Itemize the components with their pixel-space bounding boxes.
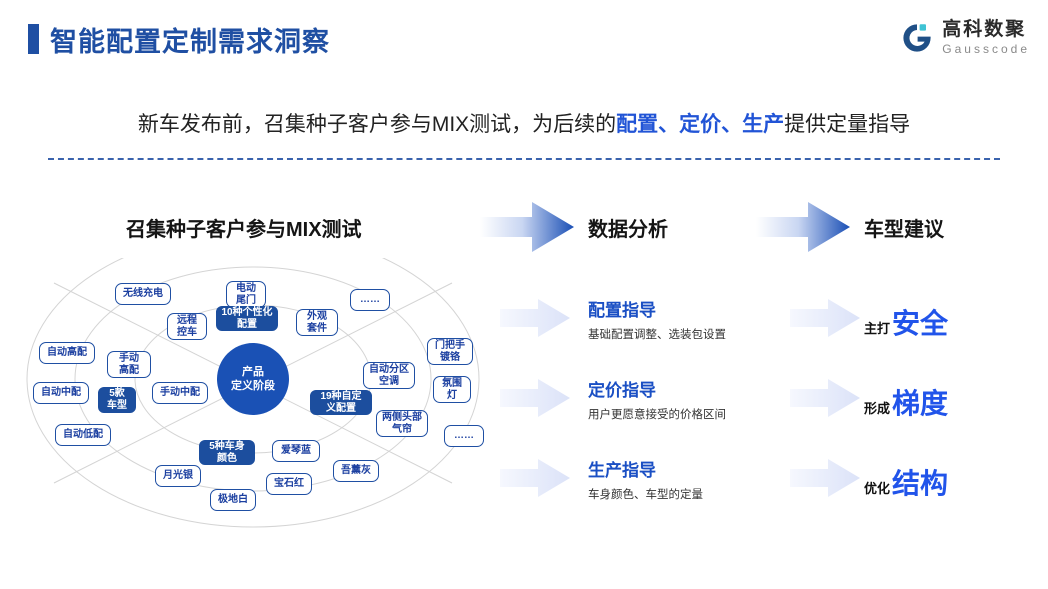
diagram-badge: 10种个性化 配置	[216, 306, 278, 331]
suggestion-word-0: 安全	[892, 302, 948, 342]
column-header-collect: 召集种子客户参与MIX测试	[126, 213, 362, 242]
row-arrow-icon-right-3	[790, 458, 862, 498]
header-arrow-right-icon-1	[480, 200, 576, 254]
diagram-node: 宝石红	[266, 473, 312, 495]
column-header-analysis: 数据分析	[588, 213, 668, 242]
logo-name-cn: 高科数聚	[942, 20, 1030, 39]
gausscode-g-icon	[900, 21, 934, 55]
suggestion-prefix-0: 主打	[864, 318, 890, 337]
suggestion-word-2: 结构	[892, 462, 948, 502]
title-accent-bar	[28, 24, 39, 54]
diagram-node: 手动中配	[152, 382, 208, 404]
diagram-node: 自动中配	[33, 382, 89, 404]
product-definition-diagram: 产品 定义阶段 无线充电电动 尾门……远程 控车外观 套件门把手 镀铬自动高配手…	[14, 258, 494, 533]
analysis-title-0: 配置指导	[588, 296, 726, 321]
row-arrow-icon-right-2	[790, 378, 862, 418]
analysis-row-1: 定价指导 用户更愿意接受的价格区间	[588, 376, 726, 422]
subtitle: 新车发布前，召集种子客户参与MIX测试，为后续的配置、定价、生产提供定量指导	[0, 108, 1048, 138]
subtitle-highlight: 配置、定价、生产	[616, 113, 784, 136]
header-arrow-right-icon-2	[756, 200, 852, 254]
diagram-node: 吾薰灰	[333, 460, 379, 482]
row-arrow-icon-right-1	[790, 298, 862, 338]
suggestion-prefix-2: 优化	[864, 478, 890, 497]
logo-name-en: Gausscode	[942, 43, 1030, 55]
diagram-node: 爱琴蓝	[272, 440, 320, 462]
diagram-node: 无线充电	[115, 283, 171, 305]
logo-text: 高科数聚 Gausscode	[942, 20, 1030, 55]
diagram-node: 自动分区 空调	[363, 362, 415, 389]
analysis-title-1: 定价指导	[588, 376, 726, 401]
slide-header: 智能配置定制需求洞察 高科数聚 Gausscode	[0, 0, 1048, 78]
diagram-node: 远程 控车	[167, 313, 207, 340]
brand-logo: 高科数聚 Gausscode	[900, 20, 1030, 55]
diagram-node: 门把手 镀铬	[427, 338, 473, 365]
analysis-row-2: 生产指导 车身颜色、车型的定量	[588, 456, 703, 502]
diagram-badge: 5款 车型	[98, 387, 136, 413]
diagram-node: 自动高配	[39, 342, 95, 364]
suggestion-row-0: 主打 安全	[864, 302, 948, 342]
slide-root: 智能配置定制需求洞察 高科数聚 Gausscode 新车发布前，召集种子客户参与…	[0, 0, 1048, 589]
diagram-node: 两侧头部 气帘	[376, 410, 428, 437]
diagram-center-node: 产品 定义阶段	[217, 343, 289, 415]
analysis-desc-1: 用户更愿意接受的价格区间	[588, 406, 726, 422]
diagram-node: ……	[350, 289, 390, 311]
diagram-node: 手动 高配	[107, 351, 151, 378]
row-arrow-icon-left-1	[500, 298, 572, 338]
diagram-badge: 19种自定 义配置	[310, 390, 372, 415]
diagram-node: 自动低配	[55, 424, 111, 446]
diagram-node: 月光银	[155, 465, 201, 487]
subtitle-part-2: 提供定量指导	[784, 113, 910, 136]
analysis-desc-0: 基础配置调整、选装包设置	[588, 326, 726, 342]
diagram-node: 外观 套件	[296, 309, 338, 336]
analysis-desc-2: 车身颜色、车型的定量	[588, 486, 703, 502]
subtitle-part-1: 新车发布前，召集种子客户参与MIX测试，为后续的	[138, 113, 616, 136]
suggestion-prefix-1: 形成	[864, 398, 890, 417]
row-arrow-icon-left-3	[500, 458, 572, 498]
section-divider	[48, 158, 1000, 160]
row-arrow-icon-left-2	[500, 378, 572, 418]
diagram-node: ……	[444, 425, 484, 447]
page-title: 智能配置定制需求洞察	[50, 20, 330, 59]
column-header-suggestion: 车型建议	[864, 213, 944, 242]
diagram-badge: 5种车身 颜色	[199, 440, 255, 465]
suggestion-row-2: 优化 结构	[864, 462, 948, 502]
analysis-row-0: 配置指导 基础配置调整、选装包设置	[588, 296, 726, 342]
analysis-title-2: 生产指导	[588, 456, 703, 481]
suggestion-word-1: 梯度	[892, 382, 948, 422]
diagram-node: 电动 尾门	[226, 281, 266, 308]
suggestion-row-1: 形成 梯度	[864, 382, 948, 422]
diagram-node: 极地白	[210, 489, 256, 511]
diagram-node: 氛围 灯	[433, 376, 471, 403]
